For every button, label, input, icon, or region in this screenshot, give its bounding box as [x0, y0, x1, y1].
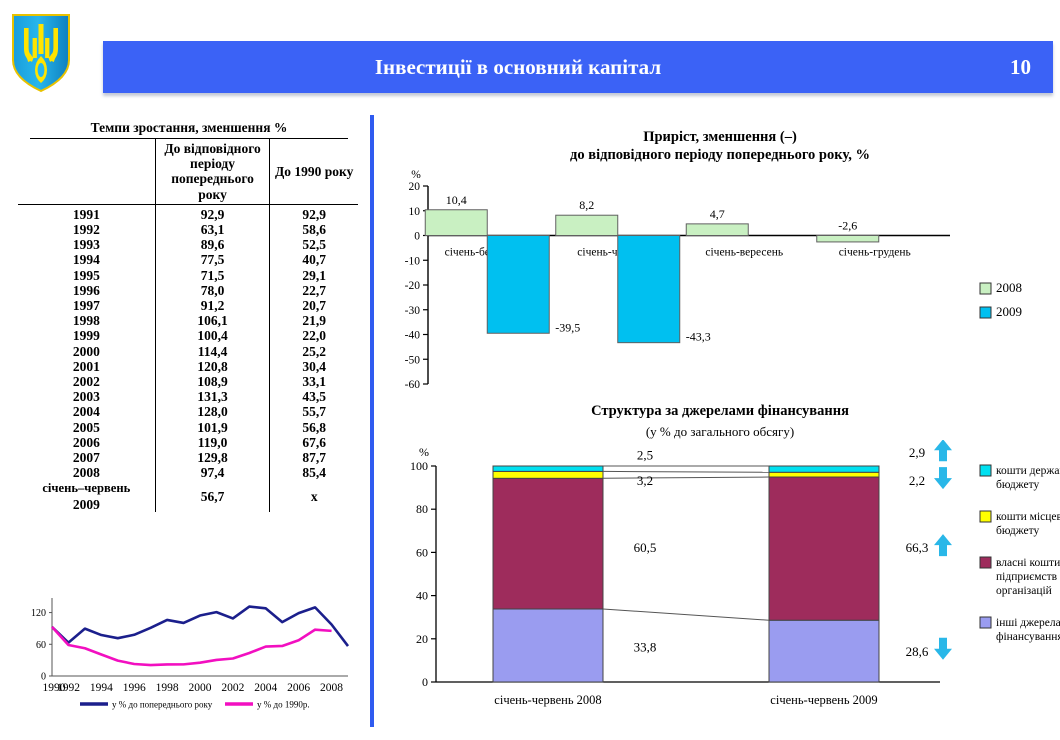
cell-prev-period: 106,1 [155, 313, 270, 328]
growth-axis-unit: % [411, 169, 421, 181]
growth-bar-label-2009-1: -43,3 [686, 330, 711, 344]
cell-base-1990: 58,6 [270, 222, 358, 237]
cell-prev-period: 120,8 [155, 359, 270, 374]
cell-base-1990: x [270, 480, 358, 511]
table-row: 200897,485,4 [18, 465, 358, 480]
table-row: 2002108,933,1 [18, 374, 358, 389]
structure-connector-2 [603, 471, 769, 472]
structure-trend-arrow-up-3 [934, 440, 952, 461]
cell-year: 2006 [18, 435, 155, 450]
structure-chart-title: Структура за джерелами фінансування [380, 402, 1060, 420]
cell-base-1990: 67,6 [270, 435, 358, 450]
growth-legend-swatch-1 [980, 307, 991, 318]
growth-y-tick-label: -60 [405, 379, 421, 391]
mini-y-tick-label: 60 [36, 640, 46, 651]
growth-bar-2009-1 [618, 236, 680, 343]
cell-base-1990: 92,9 [270, 204, 358, 222]
cell-prev-period: 63,1 [155, 222, 270, 237]
cell-base-1990: 85,4 [270, 465, 358, 480]
table-header-row: До відповідного періоду попереднього рок… [18, 139, 358, 204]
cell-prev-period: 119,0 [155, 435, 270, 450]
growth-chart-title-line1: Приріст, зменшення (–) [380, 128, 1060, 146]
structure-label-2008-1: 60,5 [634, 540, 657, 555]
growth-bar-2008-1 [556, 215, 618, 235]
cell-base-1990: 56,8 [270, 420, 358, 435]
structure-legend-label-2: кошти місцевого [996, 511, 1060, 523]
cell-prev-period: 97,4 [155, 465, 270, 480]
mini-legend-label-0: у % до попереднього року [112, 700, 213, 710]
growth-bar-label-2008-1: 8,2 [579, 198, 594, 212]
table-row: 199477,540,7 [18, 252, 358, 267]
growth-y-tick-label: 10 [409, 206, 421, 218]
structure-label-2008-2: 3,2 [637, 473, 653, 488]
cell-year: 1995 [18, 268, 155, 283]
structure-legend-swatch-3 [980, 465, 991, 476]
table-row: 1999100,422,0 [18, 328, 358, 343]
structure-y-tick-label: 40 [416, 589, 428, 603]
growth-category-label-2: січень-вересень [705, 247, 783, 259]
slide-title-bar: Інвестиції в основний капітал 10 [103, 41, 1053, 93]
growth-legend-swatch-0 [980, 283, 991, 294]
growth-bar-label-2008-0: 10,4 [446, 193, 467, 207]
structure-segment-3-1 [769, 466, 879, 472]
cell-base-1990: 22,0 [270, 328, 358, 343]
table-row: 2007129,887,7 [18, 450, 358, 465]
growth-y-tick-label: -10 [405, 255, 421, 267]
cell-year: 2008 [18, 465, 155, 480]
mini-x-tick-label: 1998 [156, 682, 179, 694]
cell-base-1990: 30,4 [270, 359, 358, 374]
cell-prev-period: 114,4 [155, 344, 270, 359]
structure-trend-arrow-up-1 [934, 534, 952, 556]
structure-legend-label-3: кошти державного [996, 465, 1060, 477]
mini-x-tick-label: 1996 [123, 682, 146, 694]
structure-legend-swatch-0 [980, 617, 991, 628]
structure-axis-unit: % [419, 445, 429, 459]
cell-base-1990: 29,1 [270, 268, 358, 283]
rates-table-panel: Темпи зростання, зменшення % До відповід… [18, 120, 358, 512]
structure-segment-3-0 [493, 466, 603, 471]
structure-y-tick-label: 100 [410, 459, 428, 473]
cell-base-1990: 20,7 [270, 298, 358, 313]
cell-year: 1991 [18, 204, 155, 222]
cell-prev-period: 100,4 [155, 328, 270, 343]
growth-bar-2008-2 [686, 224, 748, 236]
structure-y-tick-label: 0 [422, 675, 428, 689]
growth-chart-title-line2: до відповідного періоду попереднього рок… [380, 146, 1060, 164]
table-row: 199791,220,7 [18, 298, 358, 313]
cell-prev-period: 131,3 [155, 389, 270, 404]
col-header-base-1990: До 1990 року [270, 139, 358, 204]
structure-category-label-1: січень-червень 2009 [770, 693, 877, 707]
cell-base-1990: 25,2 [270, 344, 358, 359]
cell-year: 1992 [18, 222, 155, 237]
growth-y-tick-label: -50 [405, 354, 421, 366]
col-header-prev-period: До відповідного періоду попереднього рок… [155, 139, 270, 204]
mini-line-chart: 0601201990199219941996199820002002200420… [18, 592, 358, 720]
structure-segment-0-1 [769, 620, 879, 682]
table-row: 199389,652,5 [18, 237, 358, 252]
structure-trend-arrow-down-2 [934, 467, 952, 489]
growth-legend-label-1: 2009 [996, 304, 1022, 319]
cell-prev-period: 108,9 [155, 374, 270, 389]
cell-prev-period: 128,0 [155, 404, 270, 419]
structure-legend-label-1: підприємств та [996, 571, 1060, 583]
cell-year: 1999 [18, 328, 155, 343]
cell-prev-period: 56,7 [155, 480, 270, 511]
growth-bar-2008-0 [425, 210, 487, 236]
mini-x-tick-label: 2002 [221, 682, 244, 694]
structure-legend-label-3: бюджету [996, 479, 1039, 491]
structure-legend-label-1: власні кошти [996, 557, 1060, 569]
growth-y-tick-label: -30 [405, 305, 421, 317]
cell-prev-period: 71,5 [155, 268, 270, 283]
table-row: 2000114,425,2 [18, 344, 358, 359]
structure-label-2009-2: 2,2 [909, 473, 925, 488]
growth-y-tick-label: -40 [405, 330, 421, 342]
table-caption: Темпи зростання, зменшення % [30, 120, 348, 139]
cell-base-1990: 43,5 [270, 389, 358, 404]
structure-y-tick-label: 80 [416, 502, 428, 516]
mini-x-tick-label: 1992 [57, 682, 80, 694]
vertical-divider [370, 115, 374, 727]
table-row: 1998106,121,9 [18, 313, 358, 328]
growth-chart-title: Приріст, зменшення (–) до відповідного п… [380, 128, 1060, 164]
mini-x-tick-label: 2006 [287, 682, 310, 694]
cell-year: 1997 [18, 298, 155, 313]
table-row: 2006119,067,6 [18, 435, 358, 450]
table-row: 2001120,830,4 [18, 359, 358, 374]
cell-year: 2002 [18, 374, 155, 389]
cell-year: 2003 [18, 389, 155, 404]
structure-legend-label-0: фінансування [996, 631, 1060, 643]
cell-base-1990: 22,7 [270, 283, 358, 298]
structure-segment-0-0 [493, 609, 603, 682]
cell-year: 1998 [18, 313, 155, 328]
structure-connector-1 [603, 477, 769, 478]
mini-x-tick-label: 2000 [189, 682, 212, 694]
structure-label-2009-3: 2,9 [909, 445, 925, 460]
page-title: Інвестиції в основний капітал [103, 41, 933, 93]
structure-legend-label-2: бюджету [996, 525, 1039, 537]
cell-prev-period: 78,0 [155, 283, 270, 298]
cell-prev-period: 129,8 [155, 450, 270, 465]
rates-table: До відповідного періоду попереднього рок… [18, 139, 358, 512]
structure-connector-0 [603, 609, 769, 620]
structure-legend-label-0: інші джерела [996, 617, 1060, 629]
table-row: січень–червень200956,7x [18, 480, 358, 511]
cell-base-1990: 55,7 [270, 404, 358, 419]
growth-y-tick-label: 20 [409, 181, 421, 193]
structure-y-tick-label: 60 [416, 545, 428, 559]
cell-base-1990: 40,7 [270, 252, 358, 267]
cell-year: 2007 [18, 450, 155, 465]
structure-y-tick-label: 20 [416, 632, 428, 646]
mini-x-tick-label: 2004 [254, 682, 277, 694]
structure-legend-label-1: організацій [996, 585, 1052, 597]
ukraine-trident-emblem [10, 12, 72, 94]
growth-category-label-3: січень-грудень [839, 247, 911, 259]
structure-label-2009-0: 28,6 [906, 644, 929, 659]
cell-base-1990: 21,9 [270, 313, 358, 328]
growth-bar-label-2008-2: 4,7 [710, 207, 725, 221]
structure-chart-subtitle: (у % до загального обсягу) [380, 420, 1060, 440]
cell-prev-period: 77,5 [155, 252, 270, 267]
col-header-year [18, 139, 155, 204]
cell-year: 2005 [18, 420, 155, 435]
page-number: 10 [1010, 41, 1031, 93]
structure-label-2008-3: 2,5 [637, 447, 653, 462]
cell-year: січень–червень2009 [18, 480, 155, 511]
table-body: 199192,992,9199263,158,6199389,652,51994… [18, 204, 358, 512]
table-row: 2005101,956,8 [18, 420, 358, 435]
growth-bar-label-2008-3: -2,6 [838, 219, 857, 233]
cell-base-1990: 87,7 [270, 450, 358, 465]
cell-year: 1994 [18, 252, 155, 267]
growth-bar-chart: Приріст, зменшення (–) до відповідного п… [380, 128, 1060, 398]
table-row: 199678,022,7 [18, 283, 358, 298]
cell-prev-period: 89,6 [155, 237, 270, 252]
cell-year: 2001 [18, 359, 155, 374]
cell-year: 2004 [18, 404, 155, 419]
structure-label-2009-1: 66,3 [906, 540, 929, 555]
growth-y-tick-label: 0 [414, 231, 420, 243]
financing-structure-chart: Структура за джерелами фінансування (у %… [380, 402, 1060, 727]
cell-year: 1996 [18, 283, 155, 298]
structure-category-label-0: січень-червень 2008 [494, 693, 601, 707]
table-row: 199263,158,6 [18, 222, 358, 237]
structure-legend-swatch-2 [980, 511, 991, 522]
cell-base-1990: 52,5 [270, 237, 358, 252]
mini-legend-label-1: у % до 1990р. [257, 700, 310, 710]
structure-segment-2-0 [493, 471, 603, 478]
structure-segment-2-1 [769, 472, 879, 477]
growth-bar-2009-0 [487, 236, 549, 334]
table-row: 2003131,343,5 [18, 389, 358, 404]
cell-year: 1993 [18, 237, 155, 252]
structure-trend-arrow-down-0 [934, 638, 952, 660]
cell-prev-period: 101,9 [155, 420, 270, 435]
growth-y-tick-label: -20 [405, 280, 421, 292]
structure-label-2008-0: 33,8 [634, 639, 657, 654]
structure-legend-swatch-1 [980, 557, 991, 568]
table-row: 199571,529,1 [18, 268, 358, 283]
mini-x-tick-label: 2008 [320, 682, 343, 694]
growth-bar-label-2009-0: -39,5 [555, 320, 580, 334]
table-row: 199192,992,9 [18, 204, 358, 222]
structure-segment-1-1 [769, 477, 879, 620]
cell-base-1990: 33,1 [270, 374, 358, 389]
table-row: 2004128,055,7 [18, 404, 358, 419]
cell-prev-period: 91,2 [155, 298, 270, 313]
cell-prev-period: 92,9 [155, 204, 270, 222]
structure-segment-1-0 [493, 478, 603, 609]
growth-bar-2008-3 [817, 236, 879, 242]
cell-year: 2000 [18, 344, 155, 359]
mini-series-0 [52, 607, 348, 646]
growth-legend-label-0: 2008 [996, 280, 1022, 295]
mini-y-tick-label: 0 [41, 672, 46, 683]
mini-x-tick-label: 1994 [90, 682, 113, 694]
mini-y-tick-label: 120 [31, 608, 46, 619]
